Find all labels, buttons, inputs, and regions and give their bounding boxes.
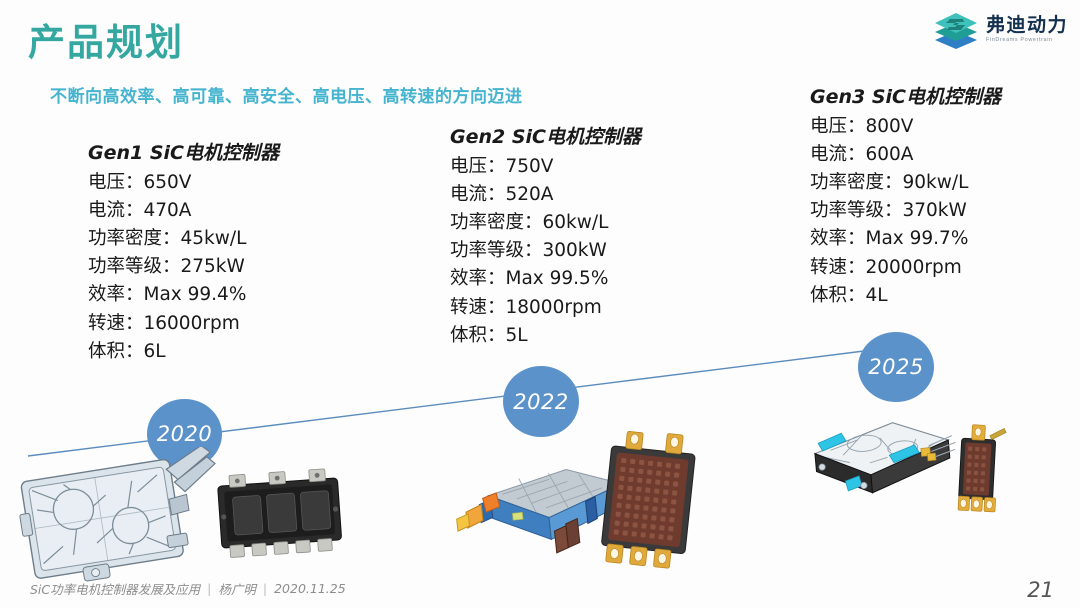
spec-row-efficiency: 效率：Max 99.4% bbox=[88, 281, 279, 309]
gen1-controller-housing bbox=[14, 447, 229, 597]
spec-row-current: 电流：520A bbox=[450, 181, 641, 209]
spec-block-gen3: Gen3 SiC电机控制器 电压：800V 电流：600A 功率密度：90kw/… bbox=[810, 82, 1001, 310]
spec-row-power-density: 功率密度：45kw/L bbox=[88, 225, 279, 253]
spec-row-volume: 体积：4L bbox=[810, 282, 1001, 310]
spec-row-current: 电流：600A bbox=[810, 141, 1001, 169]
spec-row-voltage: 电压：750V bbox=[450, 153, 641, 181]
timeline-bubble-2022[interactable]: 2022 bbox=[503, 366, 579, 437]
footer-author: 杨广明 bbox=[218, 579, 256, 598]
gen2-pinfin-power-module bbox=[590, 428, 710, 578]
spec-row-current: 电流：470A bbox=[88, 197, 279, 225]
timeline-year-label: 2022 bbox=[513, 390, 568, 414]
spec-heading: Gen2 SiC电机控制器 bbox=[450, 122, 641, 149]
gen3-power-module bbox=[940, 417, 1015, 527]
page-subtitle: 不断向高效率、高可靠、高安全、高电压、高转速的方向迈进 bbox=[50, 82, 523, 107]
footer-date: 2020.11.25 bbox=[274, 581, 346, 596]
spec-row-power-density: 功率密度：60kw/L bbox=[450, 209, 641, 237]
logo-name-en: FinDreams Powertrain bbox=[986, 38, 1068, 44]
spec-row-efficiency: 效率：Max 99.5% bbox=[450, 265, 641, 293]
spec-row-voltage: 电压：800V bbox=[810, 113, 1001, 141]
spec-block-gen2: Gen2 SiC电机控制器 电压：750V 电流：520A 功率密度：60kw/… bbox=[450, 122, 641, 350]
spec-row-speed: 转速：18000rpm bbox=[450, 294, 641, 322]
spec-heading: Gen1 SiC电机控制器 bbox=[88, 138, 279, 165]
spec-row-power-level: 功率等级：300kW bbox=[450, 237, 641, 265]
spec-row-volume: 体积：5L bbox=[450, 322, 641, 350]
timeline-year-label: 2020 bbox=[157, 422, 212, 446]
slide-canvas: 产品规划 不断向高效率、高可靠、高安全、高电压、高转速的方向迈进 弗迪动力 Fi… bbox=[0, 0, 1080, 608]
spec-heading: Gen3 SiC电机控制器 bbox=[810, 82, 1001, 109]
footer-topic: SiC功率电机控制器发展及应用 bbox=[30, 579, 200, 598]
spec-row-volume: 体积：6L bbox=[88, 338, 279, 366]
spec-row-power-density: 功率密度：90kw/L bbox=[810, 169, 1001, 197]
gen3-controller-assembly bbox=[800, 408, 960, 518]
logo-name-cn: 弗迪动力 bbox=[986, 16, 1068, 35]
gen1-power-module bbox=[210, 466, 350, 571]
spec-row-power-level: 功率等级：275kW bbox=[88, 253, 279, 281]
spec-row-efficiency: 效率：Max 99.7% bbox=[810, 225, 1001, 253]
brand-logo: 弗迪动力 FinDreams Powertrain bbox=[933, 9, 1068, 51]
page-title: 产品规划 bbox=[28, 12, 184, 66]
stacked-layers-icon bbox=[933, 9, 979, 51]
spec-row-speed: 转速：16000rpm bbox=[88, 310, 279, 338]
spec-row-voltage: 电压：650V bbox=[88, 169, 279, 197]
logo-wordmark: 弗迪动力 FinDreams Powertrain bbox=[986, 16, 1068, 44]
spec-row-power-level: 功率等级：370kW bbox=[810, 197, 1001, 225]
spec-row-speed: 转速：20000rpm bbox=[810, 254, 1001, 282]
footer-separator-2: | bbox=[263, 581, 267, 596]
footer: SiC功率电机控制器发展及应用 | 杨广明 | 2020.11.25 bbox=[30, 579, 346, 598]
spec-block-gen1: Gen1 SiC电机控制器 电压：650V 电流：470A 功率密度：45kw/… bbox=[88, 138, 279, 366]
page-number: 21 bbox=[1027, 578, 1054, 602]
timeline-bubble-2025[interactable]: 2025 bbox=[858, 332, 934, 402]
footer-separator-1: | bbox=[207, 581, 211, 596]
timeline-year-label: 2025 bbox=[868, 355, 923, 379]
